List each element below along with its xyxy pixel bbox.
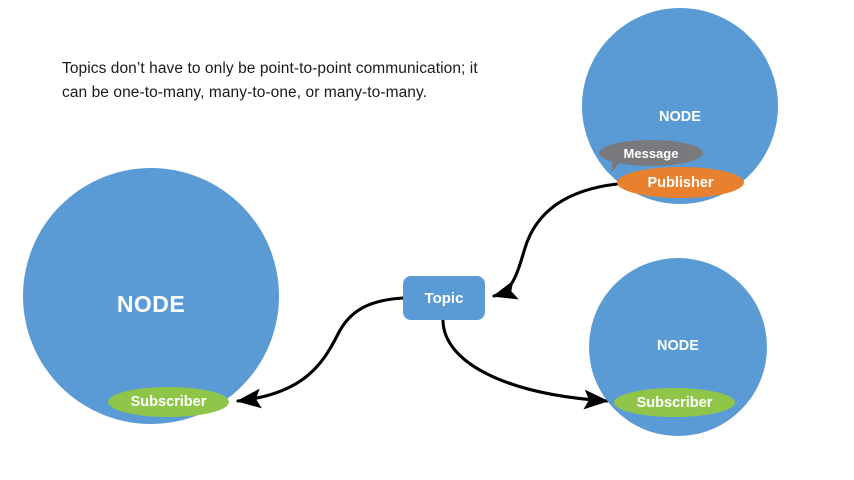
node-top-right-label: NODE <box>582 109 778 125</box>
node-left[interactable]: NODE <box>23 168 279 424</box>
arrow-topic-to-bottom-right-subscriber <box>443 321 607 401</box>
node-left-label: NODE <box>23 291 279 318</box>
message-bubble-label: Message <box>624 146 679 161</box>
subscriber-bottom-right[interactable]: Subscriber <box>614 388 735 417</box>
topic-box[interactable]: Topic <box>403 276 485 320</box>
subscriber-bottom-right-label: Subscriber <box>637 395 713 411</box>
message-bubble-tail-icon <box>611 159 626 173</box>
subscriber-left-label: Subscriber <box>131 394 207 410</box>
slide-canvas: Topics don’t have to only be point-to-po… <box>0 0 854 480</box>
publisher-top-right[interactable]: Publisher <box>617 167 744 198</box>
node-bottom-right-label: NODE <box>589 338 767 354</box>
arrow-publisher-to-topic <box>494 184 617 296</box>
topic-label: Topic <box>425 290 464 307</box>
caption-text: Topics don’t have to only be point-to-po… <box>62 57 482 105</box>
publisher-top-right-label: Publisher <box>647 175 713 191</box>
subscriber-left[interactable]: Subscriber <box>108 387 229 417</box>
